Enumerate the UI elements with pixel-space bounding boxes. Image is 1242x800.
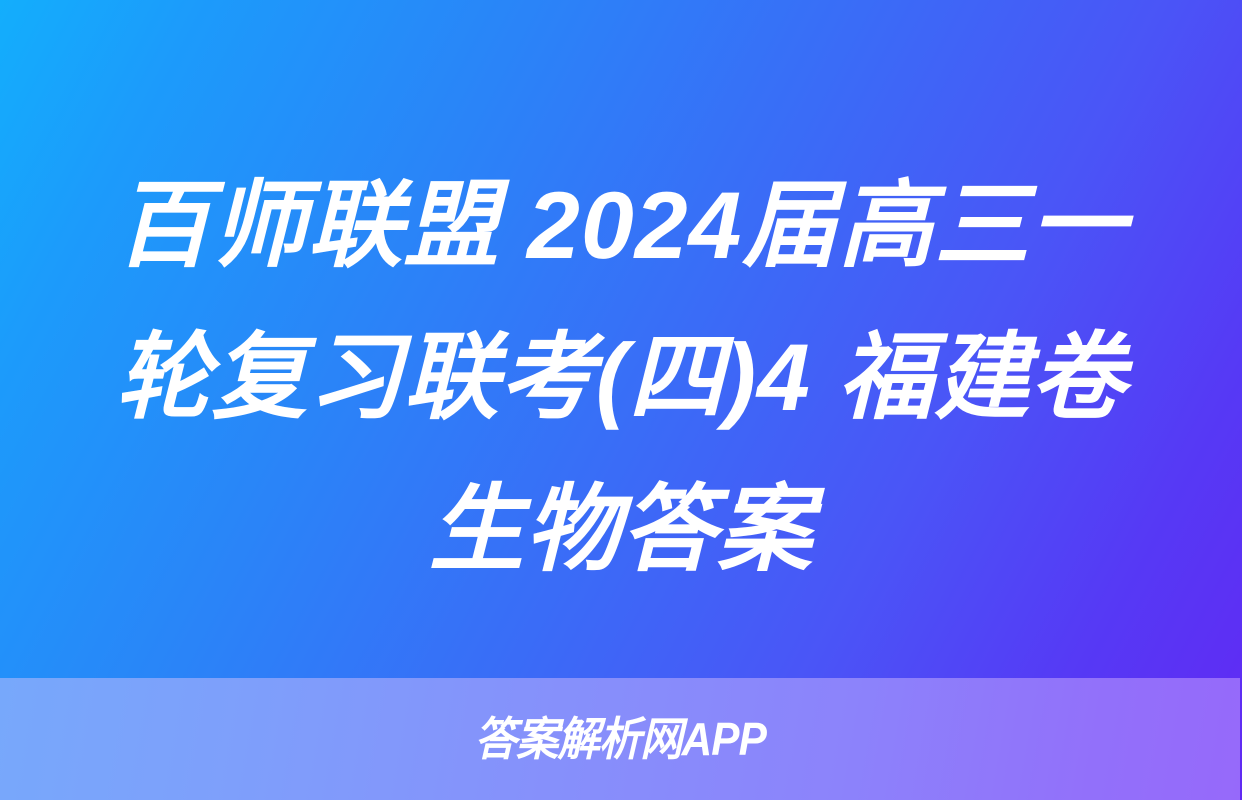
title-line-2: 轮复习联考(四)4 福建卷 [40,302,1202,454]
title-line-1: 百师联盟 2024届高三一 [40,150,1202,302]
title-line-3: 生物答案 [40,454,1202,606]
app-watermark-label: 答案解析网APP [474,716,765,762]
poster-canvas: 百师联盟 2024届高三一 轮复习联考(四)4 福建卷 生物答案 答案解析网AP… [0,0,1242,800]
page-title: 百师联盟 2024届高三一 轮复习联考(四)4 福建卷 生物答案 [0,150,1242,606]
app-watermark-banner: 答案解析网APP [0,678,1240,800]
